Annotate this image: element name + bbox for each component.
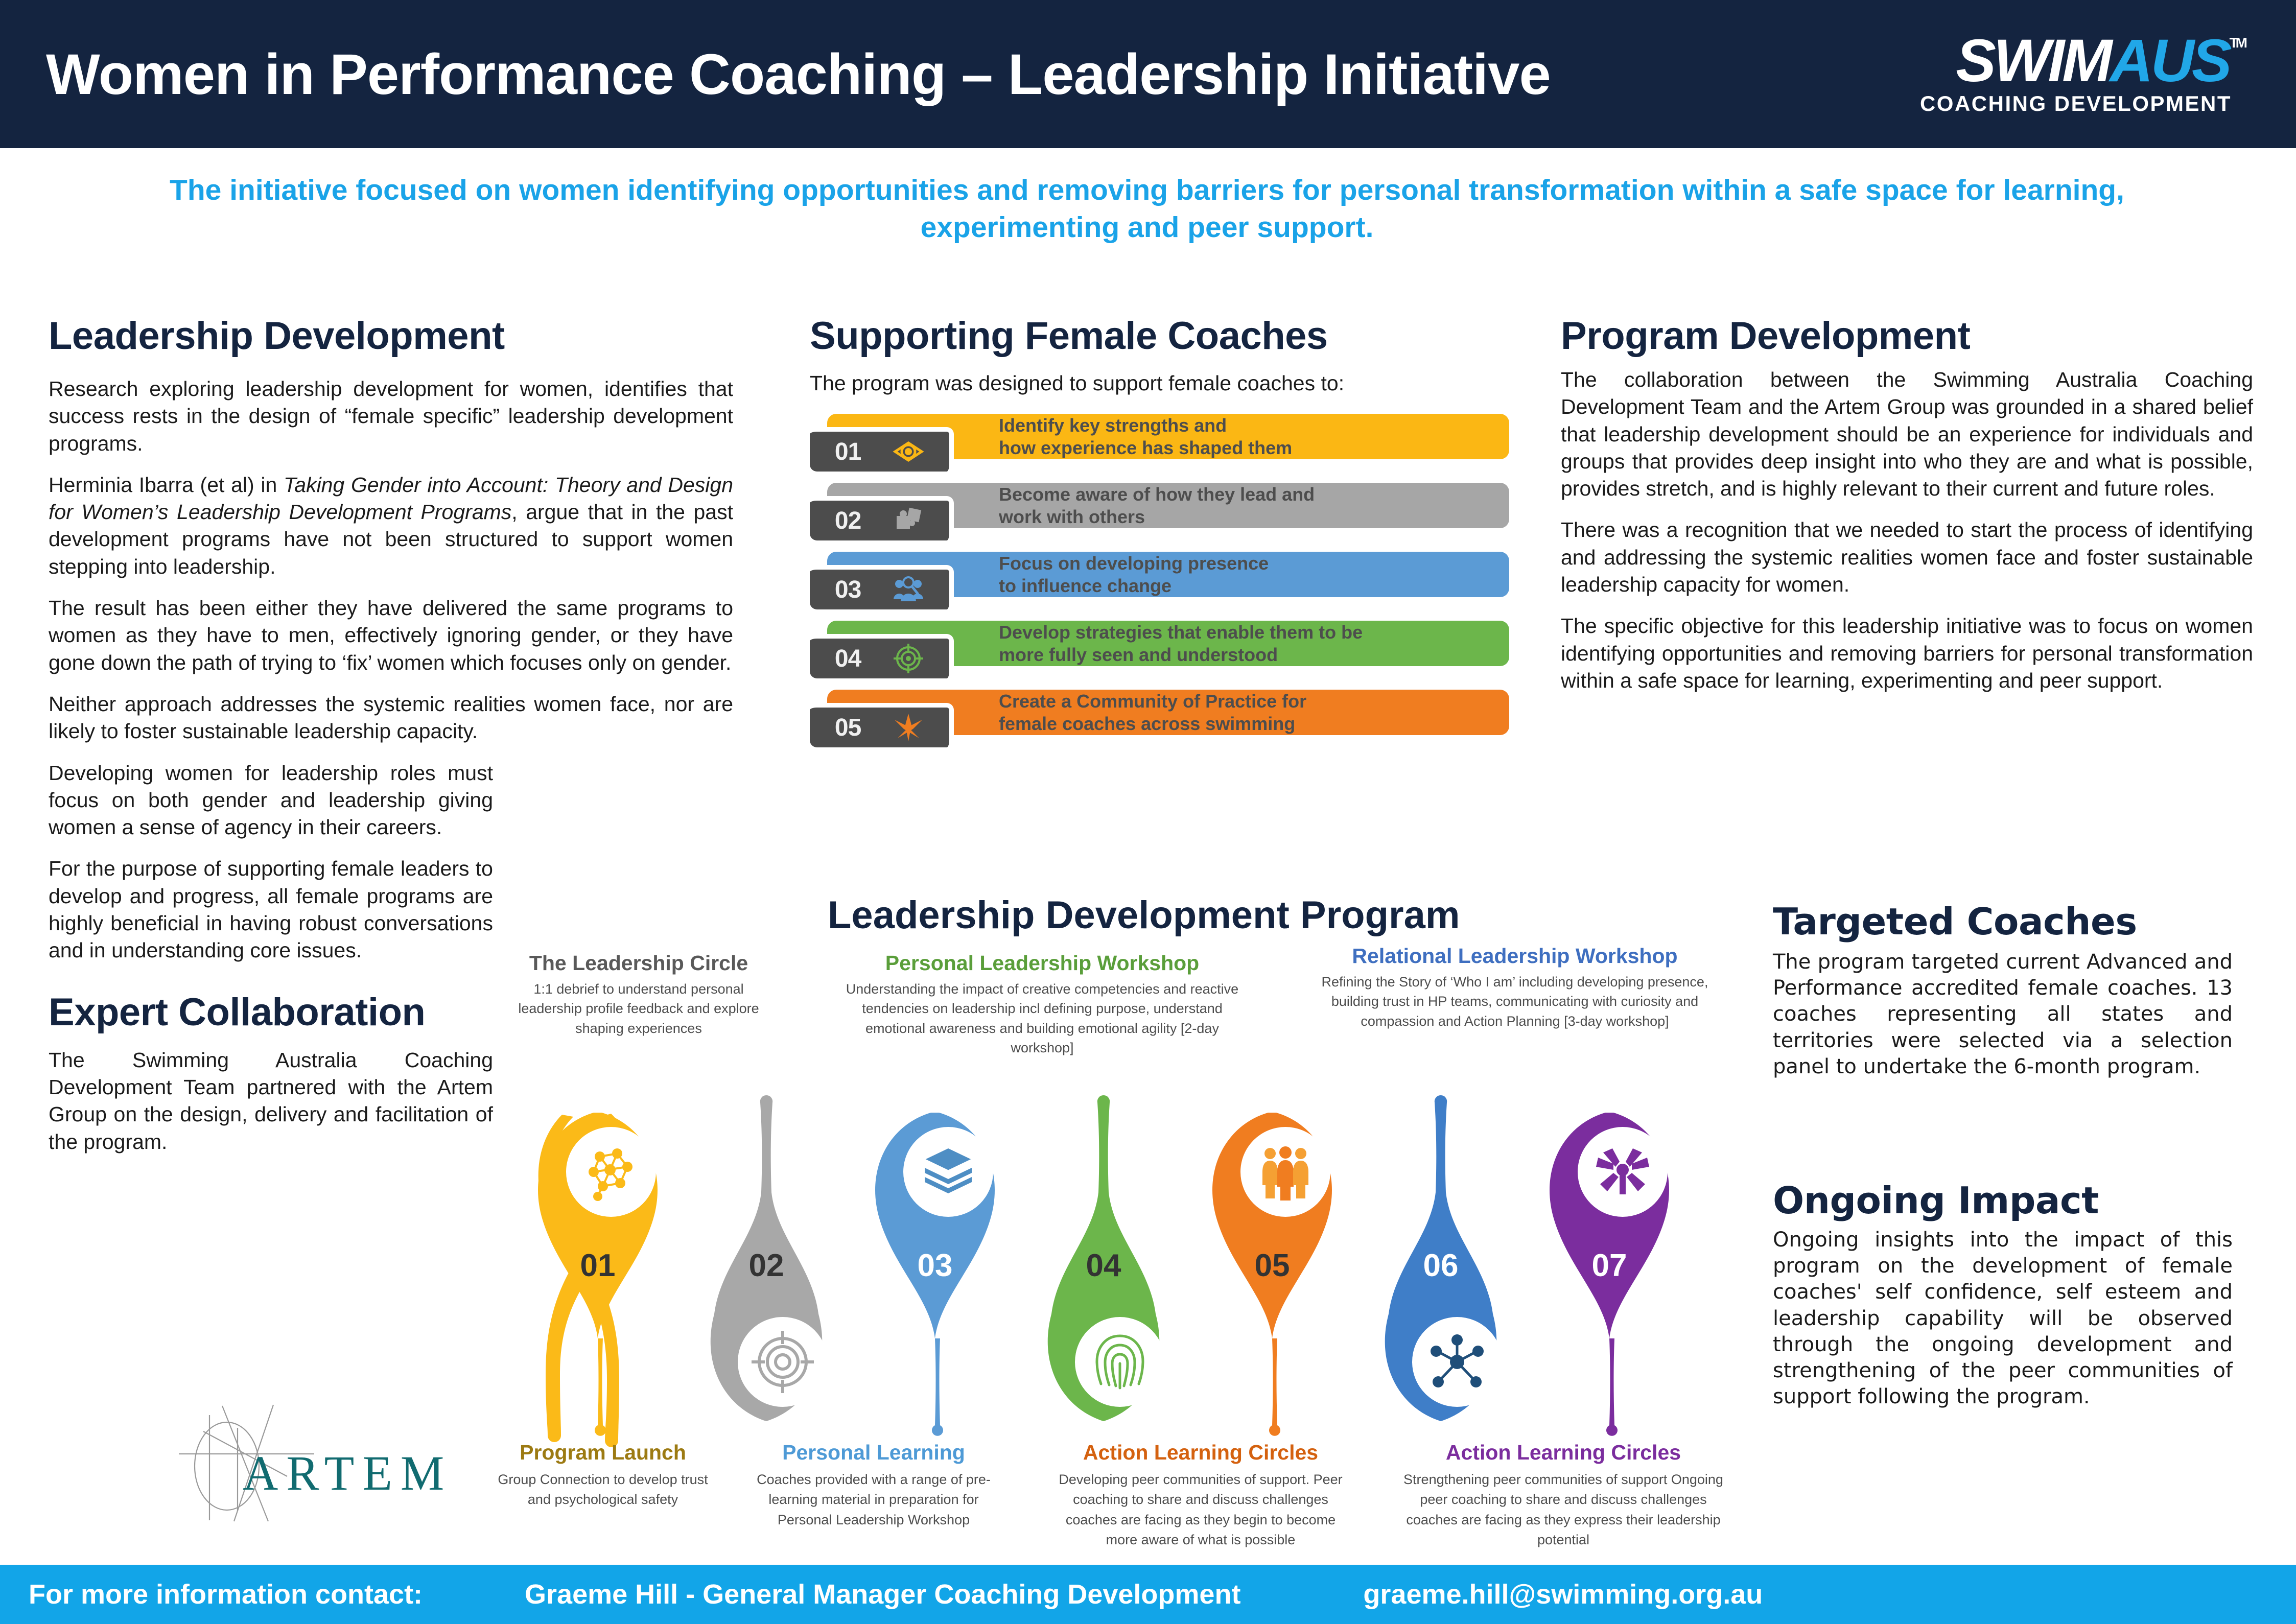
logo-wordmark: SWIMAUSTM bbox=[1956, 32, 2245, 89]
trademark-icon: TM bbox=[2230, 36, 2245, 50]
pin-label-title-1: Program Launch bbox=[488, 1441, 718, 1465]
step-tag-03: 03 bbox=[810, 565, 954, 609]
paragraph-expert: The Swimming Australia Coaching Developm… bbox=[49, 1047, 493, 1156]
step-row-01: Identify key strengths andhow experience… bbox=[810, 414, 1515, 472]
swimaus-logo: SWIMAUSTM COACHING DEVELOPMENT bbox=[1920, 32, 2260, 116]
right-column: Program Development The collaboration be… bbox=[1561, 314, 2256, 694]
artem-logo: ARTEM bbox=[174, 1400, 450, 1527]
logo-aus-text: AUS bbox=[2110, 32, 2229, 89]
pin-number-01: 01 bbox=[521, 1248, 674, 1284]
targeted-coaches-block: Targeted Coaches The program targeted cu… bbox=[1773, 900, 2233, 1080]
pin-number-07: 07 bbox=[1533, 1248, 1686, 1284]
section-heading-program-development: Program Development bbox=[1561, 314, 2256, 358]
step-row-04: Develop strategies that enable them to b… bbox=[810, 621, 1515, 678]
workshop-desc-3: Refining the Story of ‘Who I am’ includi… bbox=[1308, 972, 1722, 1031]
target-icon bbox=[738, 1317, 828, 1407]
eye-icon bbox=[893, 436, 924, 467]
workshop-block-leadership-circle: The Leadership Circle 1:1 debrief to und… bbox=[501, 951, 777, 1038]
pin-06: 06 bbox=[1364, 1078, 1517, 1435]
three-women-icon bbox=[1240, 1127, 1330, 1217]
paragraph-neither: Neither approach addresses the systemic … bbox=[49, 691, 733, 745]
hands-together-icon bbox=[1578, 1127, 1668, 1217]
pin-03: 03 bbox=[858, 1098, 1012, 1456]
pin-label-action-learning-circles-1: Action Learning Circles Developing peer … bbox=[1052, 1441, 1349, 1550]
logo-subtitle: COACHING DEVELOPMENT bbox=[1920, 91, 2232, 116]
section-heading-supporting-female-coaches: Supporting Female Coaches bbox=[810, 314, 1515, 358]
people-presence-icon bbox=[893, 574, 924, 605]
workshop-title-3: Relational Leadership Workshop bbox=[1308, 944, 1722, 968]
workshop-block-relational-leadership: Relational Leadership Workshop Refining … bbox=[1308, 944, 1722, 1031]
section-heading-leadership-development-program: Leadership Development Program bbox=[828, 893, 1460, 937]
pin-label-desc-2: Coaches provided with a range of pre-lea… bbox=[741, 1470, 1006, 1530]
books-stack-icon bbox=[903, 1127, 993, 1217]
ongoing-impact-block: Ongoing Impact Ongoing insights into the… bbox=[1773, 1179, 2233, 1410]
workshop-title-2: Personal Leadership Workshop bbox=[838, 951, 1247, 975]
step-tag-05: 05 bbox=[810, 703, 954, 747]
pin-04: 04 bbox=[1027, 1078, 1180, 1435]
poster-footer: For more information contact: Graeme Hil… bbox=[0, 1565, 2296, 1624]
poster-header: Women in Performance Coaching – Leadersh… bbox=[0, 0, 2296, 148]
paragraph-ongoing: Ongoing insights into the impact of this… bbox=[1773, 1227, 2233, 1410]
step-number-04: 04 bbox=[835, 645, 861, 673]
network-star-icon bbox=[893, 712, 924, 743]
workshop-desc-2: Understanding the impact of creative com… bbox=[838, 979, 1247, 1057]
supporting-lead-text: The program was designed to support fema… bbox=[810, 371, 1515, 395]
pin-label-title-4: Action Learning Circles bbox=[1400, 1441, 1727, 1465]
step-row-02: Become aware of how they lead andwork wi… bbox=[810, 483, 1515, 540]
target-icon bbox=[893, 643, 924, 674]
footer-contact-email[interactable]: graeme.hill@swimming.org.au bbox=[1363, 1579, 1763, 1610]
pin-number-06: 06 bbox=[1364, 1248, 1517, 1284]
paragraph-purpose: For the purpose of supporting female lea… bbox=[49, 855, 493, 964]
paragraph-recognition: There was a recognition that we needed t… bbox=[1561, 516, 2253, 598]
step-tag-01: 01 bbox=[810, 427, 954, 472]
page-title: Women in Performance Coaching – Leadersh… bbox=[46, 41, 1551, 107]
pin-02: 02 bbox=[690, 1078, 843, 1435]
footer-contact-person: Graeme Hill - General Manager Coaching D… bbox=[525, 1579, 1240, 1610]
pin-label-title-2: Personal Learning bbox=[741, 1441, 1006, 1465]
step-text-02: Become aware of how they lead andwork wi… bbox=[999, 483, 1315, 528]
program-development-body: The collaboration between the Swimming A… bbox=[1561, 366, 2253, 694]
step-text-03: Focus on developing presenceto influence… bbox=[999, 552, 1269, 597]
ibarra-prefix: Herminia Ibarra (et al) in bbox=[49, 473, 284, 497]
paragraph-research: Research exploring leadership developmen… bbox=[49, 375, 733, 457]
fingerprint-icon bbox=[1075, 1317, 1165, 1407]
pin-05: 05 bbox=[1196, 1098, 1349, 1456]
hub-network-icon bbox=[1412, 1317, 1502, 1407]
pin-label-desc-3: Developing peer communities of support. … bbox=[1052, 1470, 1349, 1550]
step-row-05: Create a Community of Practice forfemale… bbox=[810, 690, 1515, 747]
pin-01: 01 bbox=[521, 1098, 674, 1456]
pin-07: 07 bbox=[1533, 1098, 1686, 1456]
paragraph-result: The result has been either they have del… bbox=[49, 595, 733, 676]
step-number-02: 02 bbox=[835, 507, 861, 535]
paragraph-developing: Developing women for leadership roles mu… bbox=[49, 760, 493, 841]
pin-number-03: 03 bbox=[858, 1248, 1012, 1284]
paragraph-targeted: The program targeted current Advanced an… bbox=[1773, 949, 2233, 1080]
pin-label-desc-4: Strengthening peer communities of suppor… bbox=[1400, 1470, 1727, 1550]
pin-label-desc-1: Group Connection to develop trust and ps… bbox=[488, 1470, 718, 1510]
paragraph-collaboration: The collaboration between the Swimming A… bbox=[1561, 366, 2253, 502]
workshop-desc-1: 1:1 debrief to understand personal leade… bbox=[501, 979, 777, 1038]
pin-label-program-launch: Program Launch Group Connection to devel… bbox=[488, 1441, 718, 1510]
step-tag-02: 02 bbox=[810, 496, 954, 540]
pin-label-personal-learning: Personal Learning Coaches provided with … bbox=[741, 1441, 1006, 1530]
expert-collaboration-body: The Swimming Australia Coaching Developm… bbox=[49, 1047, 493, 1156]
pin-label-title-3: Action Learning Circles bbox=[1052, 1441, 1349, 1465]
step-number-05: 05 bbox=[835, 714, 861, 742]
step-text-05: Create a Community of Practice forfemale… bbox=[999, 690, 1306, 735]
people-network-icon bbox=[566, 1127, 656, 1217]
section-heading-targeted-coaches: Targeted Coaches bbox=[1773, 900, 2233, 943]
step-tag-04: 04 bbox=[810, 634, 954, 678]
workshop-title-1: The Leadership Circle bbox=[501, 951, 777, 975]
paragraph-ibarra: Herminia Ibarra (et al) in Taking Gender… bbox=[49, 472, 733, 580]
artem-wordmark: ARTEM bbox=[243, 1445, 452, 1501]
pin-number-04: 04 bbox=[1027, 1248, 1180, 1284]
poster-subtitle: The initiative focused on women identify… bbox=[123, 172, 2171, 246]
logo-swim-text: SWIM bbox=[1956, 32, 2110, 89]
step-row-03: Focus on developing presenceto influence… bbox=[810, 552, 1515, 609]
step-text-04: Develop strategies that enable them to b… bbox=[999, 621, 1363, 666]
workshop-block-personal-leadership: Personal Leadership Workshop Understandi… bbox=[838, 951, 1247, 1057]
paragraph-objective: The specific objective for this leadersh… bbox=[1561, 613, 2253, 694]
footer-contact-label: For more information contact: bbox=[29, 1579, 423, 1610]
pin-number-02: 02 bbox=[690, 1248, 843, 1284]
leadership-development-body: Research exploring leadership developmen… bbox=[49, 375, 733, 964]
pin-number-05: 05 bbox=[1196, 1248, 1349, 1284]
section-heading-ongoing-impact: Ongoing Impact bbox=[1773, 1179, 2233, 1222]
step-number-03: 03 bbox=[835, 576, 861, 604]
program-pin-diagram: 01 02 03 04 bbox=[521, 1078, 1798, 1456]
step-number-01: 01 bbox=[835, 438, 861, 466]
puzzle-icon bbox=[893, 505, 924, 536]
section-heading-leadership-development: Leadership Development bbox=[49, 314, 746, 358]
step-text-01: Identify key strengths andhow experience… bbox=[999, 414, 1292, 459]
middle-column: Supporting Female Coaches The program wa… bbox=[810, 314, 1515, 759]
pin-label-action-learning-circles-2: Action Learning Circles Strengthening pe… bbox=[1400, 1441, 1727, 1550]
